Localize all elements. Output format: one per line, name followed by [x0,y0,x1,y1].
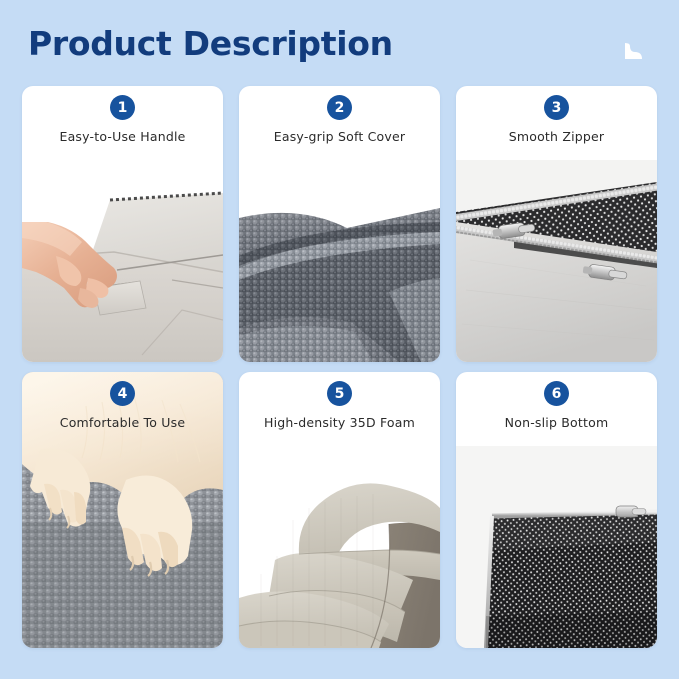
card-3-number-badge: 3 [544,95,569,120]
card-2-image [239,160,440,362]
feature-card-3[interactable]: 3 Smooth Zipper [456,86,657,362]
feature-card-grid: 1 Easy-to-Use Handle [22,86,657,648]
card-3-caption: 3 Smooth Zipper [456,86,657,160]
card-3-image [456,160,657,362]
product-description-infographic: Product Description 1 Easy-to-Use Handle [0,0,679,679]
header: Product Description [0,0,679,86]
feature-card-4[interactable]: 4 Comfortable To Use [22,372,223,648]
card-5-label: High-density 35D Foam [264,415,415,430]
card-1-caption: 1 Easy-to-Use Handle [22,86,223,160]
card-2-label: Easy-grip Soft Cover [274,129,405,144]
feature-card-2[interactable]: 2 Easy-grip Soft Cover [239,86,440,362]
card-6-image [456,446,657,648]
feature-card-5[interactable]: 5 High-density 35D Foam [239,372,440,648]
feature-card-6[interactable]: 6 Non-slip Bottom [456,372,657,648]
card-6-caption: 6 Non-slip Bottom [456,372,657,446]
card-6-label: Non-slip Bottom [505,415,609,430]
feature-card-1[interactable]: 1 Easy-to-Use Handle [22,86,223,362]
card-5-number-badge: 5 [327,381,352,406]
card-3-label: Smooth Zipper [509,129,605,144]
card-5-caption: 5 High-density 35D Foam [239,372,440,446]
card-2-number-badge: 2 [327,95,352,120]
card-5-image [239,446,440,648]
card-2-caption: 2 Easy-grip Soft Cover [239,86,440,160]
card-1-label: Easy-to-Use Handle [59,129,185,144]
card-4-image [22,372,223,648]
card-1-number-badge: 1 [110,95,135,120]
corner-fold-shape-icon [622,41,644,63]
card-1-image [22,160,223,362]
page-title: Product Description [28,24,393,63]
card-6-number-badge: 6 [544,381,569,406]
